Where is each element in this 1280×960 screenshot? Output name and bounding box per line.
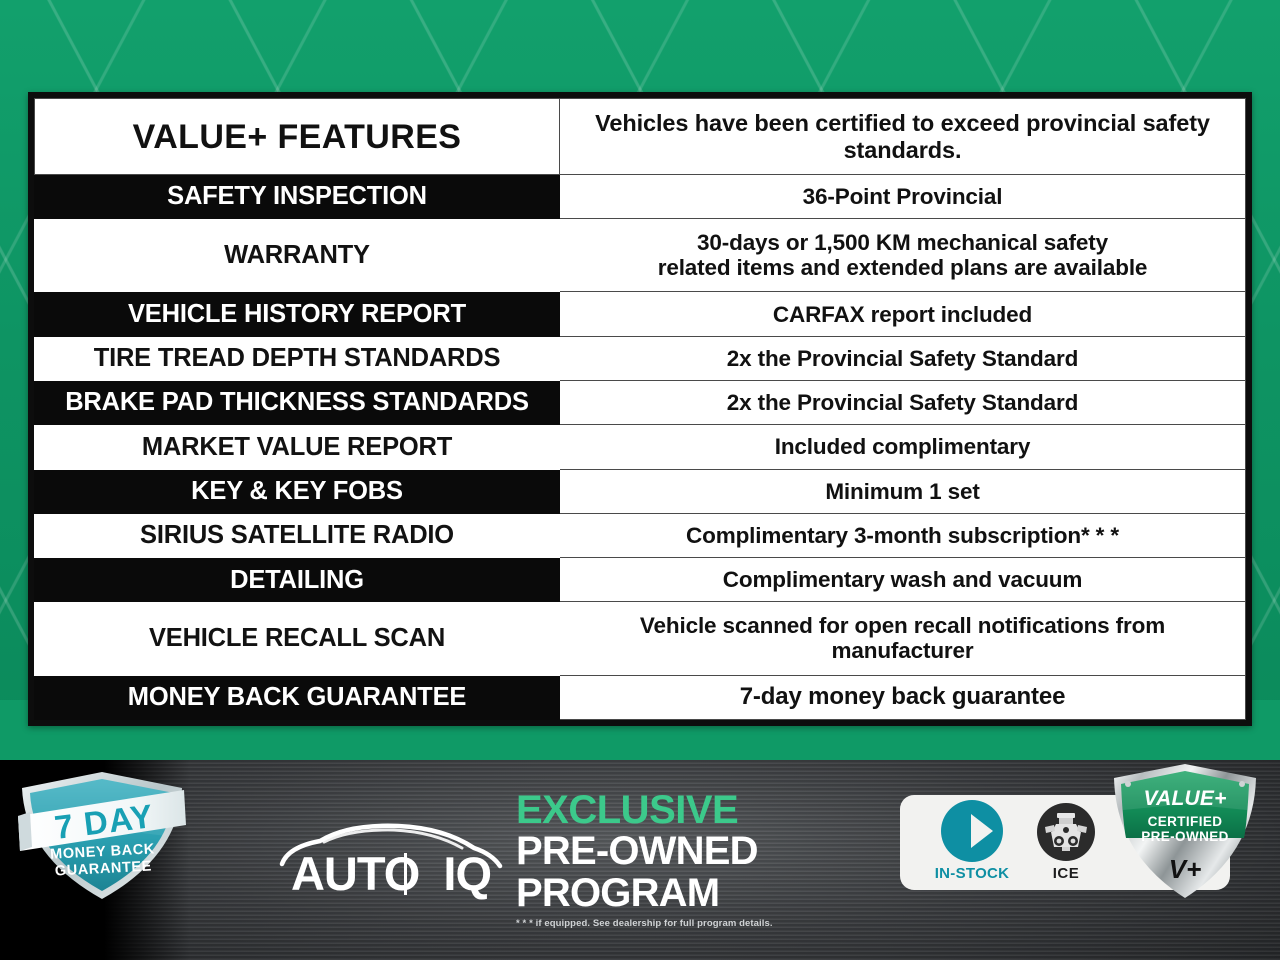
table-header-row: VALUE+ FEATURES Vehicles have been certi… bbox=[35, 99, 1246, 175]
feature-name-cell: WARRANTY bbox=[35, 219, 560, 292]
promo-line-program: PROGRAM bbox=[516, 872, 816, 914]
table-row: WARRANTY30-days or 1,500 KM mechanical s… bbox=[35, 219, 1246, 292]
autoiq-wordmark: AUTO IQ bbox=[276, 846, 506, 901]
table-row: BRAKE PAD THICKNESS STANDARDS2x the Prov… bbox=[35, 381, 1246, 425]
arrow-right-icon bbox=[941, 800, 1003, 862]
engine-glyph-icon bbox=[1037, 803, 1095, 861]
feature-name-cell: MARKET VALUE REPORT bbox=[35, 425, 560, 469]
header-subtitle: Vehicles have been certified to exceed p… bbox=[560, 99, 1246, 175]
feature-detail-cell: Complimentary wash and vacuum bbox=[560, 558, 1246, 602]
poster-root: VALUE+ FEATURES Vehicles have been certi… bbox=[0, 0, 1280, 960]
arrow-glyph-icon bbox=[949, 811, 995, 851]
feature-detail-cell: 2x the Provincial Safety Standard bbox=[560, 381, 1246, 425]
feature-name-cell: VEHICLE RECALL SCAN bbox=[35, 602, 560, 675]
feature-name-cell: KEY & KEY FOBS bbox=[35, 469, 560, 513]
feature-detail-cell: Included complimentary bbox=[560, 425, 1246, 469]
table-row: VEHICLE RECALL SCANVehicle scanned for o… bbox=[35, 602, 1246, 675]
table-row: DETAILINGComplimentary wash and vacuum bbox=[35, 558, 1246, 602]
value-plus-features-table: VALUE+ FEATURES Vehicles have been certi… bbox=[28, 92, 1252, 726]
table-row: SAFETY INSPECTION36-Point Provincial bbox=[35, 175, 1246, 219]
table-row: SIRIUS SATELLITE RADIOComplimentary 3-mo… bbox=[35, 513, 1246, 557]
value-plus-title: VALUE+ bbox=[1110, 787, 1260, 811]
feature-name-cell: MONEY BACK GUARANTEE bbox=[35, 675, 560, 719]
promo-line-preowned: PRE-OWNED bbox=[516, 830, 816, 872]
table-row: MARKET VALUE REPORTIncluded complimentar… bbox=[35, 425, 1246, 469]
page-title: VALUE+ FEATURES bbox=[35, 99, 560, 175]
value-plus-mark: V+ bbox=[1110, 854, 1260, 885]
feature-detail-cell: 2x the Provincial Safety Standard bbox=[560, 336, 1246, 380]
in-stock-badge: IN-STOCK bbox=[922, 800, 1022, 882]
feature-detail-cell: CARFAX report included bbox=[560, 292, 1246, 336]
promo-line-exclusive: EXCLUSIVE bbox=[516, 790, 816, 830]
feature-name-cell: TIRE TREAD DEPTH STANDARDS bbox=[35, 336, 560, 380]
table-row: VEHICLE HISTORY REPORTCARFAX report incl… bbox=[35, 292, 1246, 336]
ice-label: ICE bbox=[1028, 865, 1104, 882]
autoiq-divider bbox=[404, 853, 407, 895]
promo-disclaimer: * * * if equipped. See dealership for fu… bbox=[516, 918, 816, 929]
table-row: KEY & KEY FOBSMinimum 1 set bbox=[35, 469, 1246, 513]
feature-name-cell: SIRIUS SATELLITE RADIO bbox=[35, 513, 560, 557]
table-row: TIRE TREAD DEPTH STANDARDS2x the Provinc… bbox=[35, 336, 1246, 380]
certified-text: CERTIFIED bbox=[1148, 814, 1223, 829]
in-stock-label: IN-STOCK bbox=[922, 865, 1022, 882]
feature-name-cell: SAFETY INSPECTION bbox=[35, 175, 560, 219]
autoiq-logo: AUTO IQ bbox=[276, 820, 506, 900]
feature-detail-cell: Complimentary 3-month subscription* * * bbox=[560, 513, 1246, 557]
feature-name-cell: VEHICLE HISTORY REPORT bbox=[35, 292, 560, 336]
feature-detail-cell: 7-day money back guarantee bbox=[560, 675, 1246, 719]
feature-name-cell: BRAKE PAD THICKNESS STANDARDS bbox=[35, 381, 560, 425]
feature-detail-cell: 30-days or 1,500 KM mechanical safetyrel… bbox=[560, 219, 1246, 292]
feature-name-cell: DETAILING bbox=[35, 558, 560, 602]
seven-day-money-back-shield: 7 DAY MONEY BACK GUARANTEE bbox=[16, 768, 188, 903]
feature-detail-cell: Minimum 1 set bbox=[560, 469, 1246, 513]
feature-detail-cell: Vehicle scanned for open recall notifica… bbox=[560, 602, 1246, 675]
promo-headline-block: EXCLUSIVE PRE-OWNED PROGRAM * * * if equ… bbox=[516, 790, 816, 929]
ice-badge: ICE bbox=[1028, 803, 1104, 882]
value-plus-subtitle: CERTIFIED PRE-OWNED bbox=[1110, 814, 1260, 844]
value-plus-certified-shield: VALUE+ CERTIFIED PRE-OWNED V+ bbox=[1110, 762, 1260, 902]
table-row: MONEY BACK GUARANTEE7-day money back gua… bbox=[35, 675, 1246, 719]
engine-icon bbox=[1037, 803, 1095, 861]
feature-detail-cell: 36-Point Provincial bbox=[560, 175, 1246, 219]
preowned-text: PRE-OWNED bbox=[1141, 829, 1229, 844]
